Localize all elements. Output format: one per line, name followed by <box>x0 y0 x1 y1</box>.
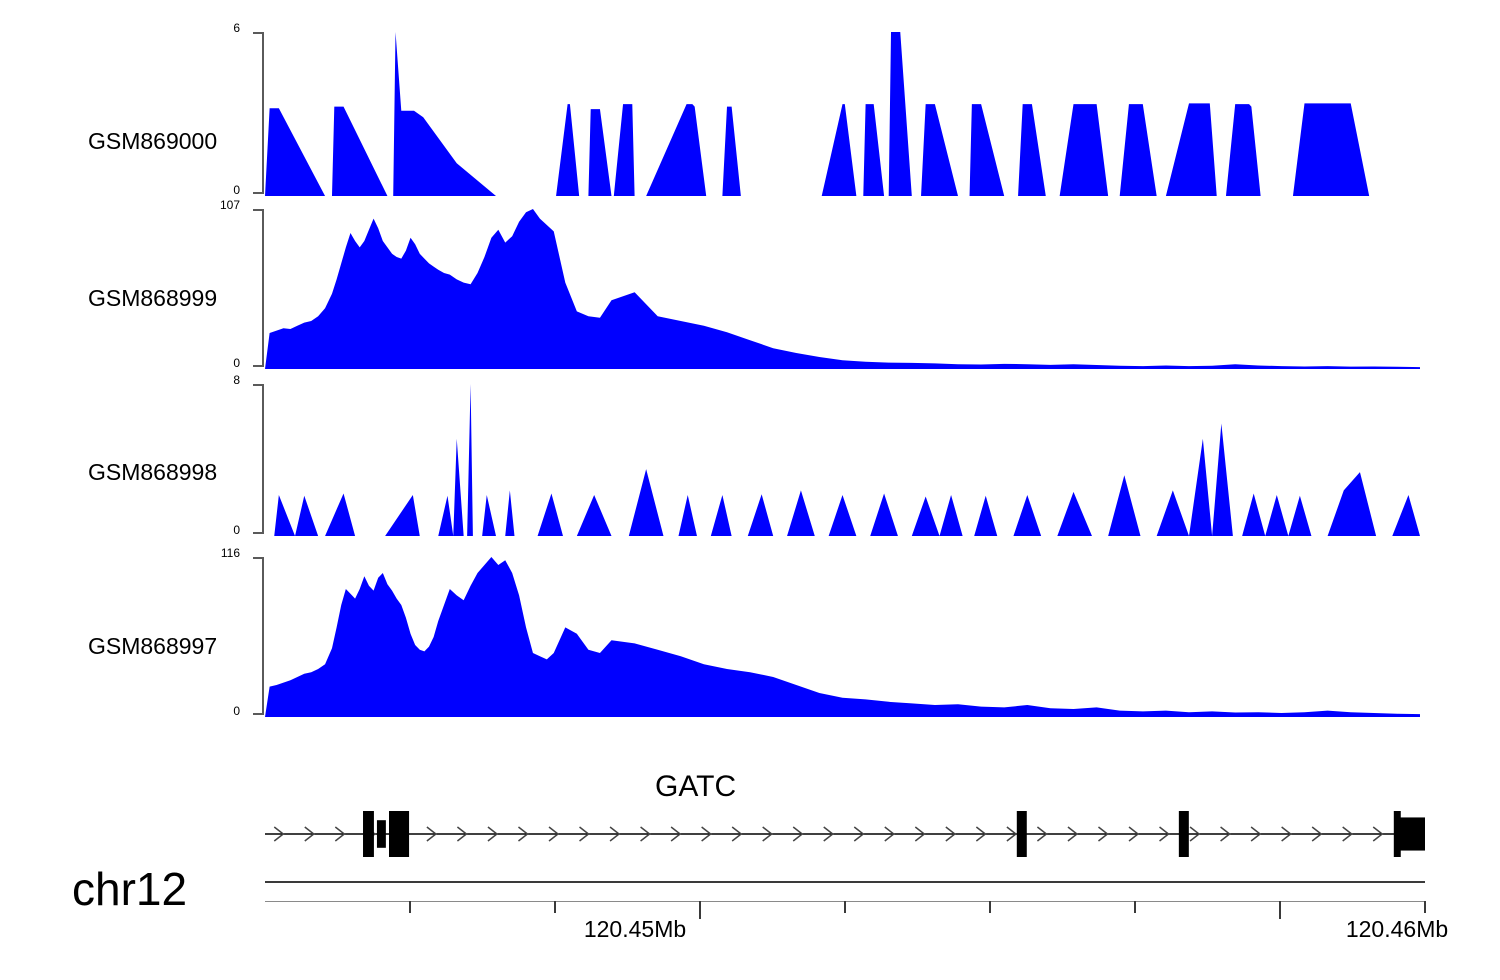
plot-gsm868999 <box>265 209 1420 369</box>
area-gsm868998 <box>265 384 1420 536</box>
ruler-minor-tick <box>1424 901 1425 913</box>
y-axis-gsm868999: 107 0 <box>196 205 266 371</box>
exon-block[interactable] <box>363 811 374 857</box>
exon-block[interactable] <box>377 820 386 848</box>
ruler-label-120-46: 120.46Mb <box>1317 916 1477 943</box>
y-axis-max-gsm869000: 6 <box>196 21 240 35</box>
ruler-minor-tick <box>554 901 555 913</box>
plot-gsm869000 <box>265 32 1420 196</box>
track-gsm868999: GSM868999 107 0 <box>0 205 1500 375</box>
exon-block[interactable] <box>1017 811 1027 857</box>
y-axis-min-gsm868998: 0 <box>196 523 240 537</box>
y-axis-max-gsm868999: 107 <box>196 198 240 212</box>
plot-gsm868997 <box>265 557 1420 717</box>
exon-block[interactable] <box>1400 817 1425 850</box>
y-axis-max-gsm868998: 8 <box>196 373 240 387</box>
y-axis-gsm868998: 8 0 <box>196 380 266 538</box>
y-axis-min-gsm869000: 0 <box>196 183 240 197</box>
ruler-major-tick <box>699 901 700 919</box>
y-axis-min-gsm868997: 0 <box>196 704 240 718</box>
gene-annotation-track[interactable]: GATC <box>265 775 1425 870</box>
y-axis-min-gsm868999: 0 <box>196 356 240 370</box>
exon-block[interactable] <box>1394 811 1401 857</box>
exon-block[interactable] <box>389 811 409 857</box>
track-gsm869000: GSM869000 6 0 <box>0 28 1500 200</box>
ruler-base-line <box>265 901 1425 902</box>
gene-name-label: GATC <box>655 770 736 804</box>
y-axis-gsm868997: 116 0 <box>196 553 266 717</box>
ruler-minor-tick <box>989 901 990 913</box>
y-axis-gsm869000: 6 0 <box>196 28 266 196</box>
track-gsm868998: GSM868998 8 0 <box>0 380 1500 542</box>
exon-block[interactable] <box>1179 811 1189 857</box>
ruler-label-120-45: 120.45Mb <box>555 916 715 943</box>
plot-gsm868998 <box>265 384 1420 536</box>
area-gsm868999 <box>265 209 1420 369</box>
area-gsm868997 <box>265 557 1420 717</box>
area-gsm869000 <box>265 32 1420 196</box>
ruler-minor-tick <box>844 901 845 913</box>
ruler-minor-tick <box>409 901 410 913</box>
ruler-major-tick <box>1279 901 1280 919</box>
y-axis-max-gsm868997: 116 <box>196 546 240 560</box>
track-gsm868997: GSM868997 116 0 <box>0 553 1500 721</box>
ruler-minor-tick <box>1134 901 1135 913</box>
chromosome-label: chr12 <box>72 862 187 916</box>
